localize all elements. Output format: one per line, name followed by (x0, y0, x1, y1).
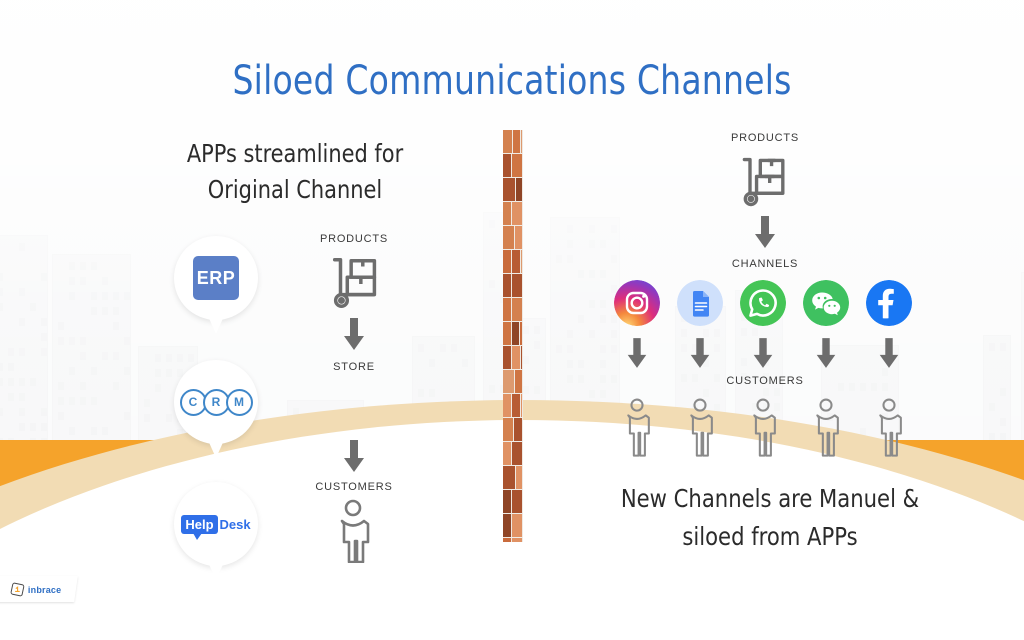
right-products-label: PRODUCTS (705, 132, 825, 144)
right-arrow-channel-4 (813, 338, 839, 373)
right-arrow-channel-1 (624, 338, 650, 373)
right-person-icon-5 (874, 392, 904, 469)
diamond-logo-icon (10, 582, 25, 597)
left-heading-line-1: APPs streamlined for (160, 136, 430, 172)
right-person-icon-2 (685, 392, 715, 469)
left-section-heading: APPs streamlined for Original Channel (160, 136, 430, 208)
app-bubble-helpdesk[interactable]: Help Desk (174, 482, 258, 566)
brick-row (503, 250, 523, 274)
brick-row (503, 322, 523, 346)
left-heading-line-2: Original Channel (160, 172, 430, 208)
right-arrow-channel-2 (687, 338, 713, 373)
right-person-icon-3 (748, 392, 778, 469)
bubble-tail-icon (207, 438, 225, 458)
right-person-icon-4 (811, 392, 841, 469)
left-products-label: PRODUCTS (294, 233, 414, 245)
left-dolly-icon (325, 252, 387, 319)
left-arrow-products-to-store (340, 318, 368, 355)
brick-row (503, 346, 523, 370)
left-customers-label: CUSTOMERS (294, 481, 414, 493)
right-person-icon-1 (622, 392, 652, 469)
left-store-label: STORE (294, 361, 414, 373)
brick-row (503, 466, 523, 490)
brick-row (503, 514, 523, 538)
brick-row (503, 202, 523, 226)
google-docs-icon[interactable] (677, 280, 723, 326)
slide-canvas: Siloed Communications Channels APPs stre… (0, 0, 1024, 640)
brick-row (503, 130, 523, 154)
facebook-icon[interactable] (866, 280, 912, 326)
brick-row (503, 418, 523, 442)
right-caption-line-2: siloed from APPs (610, 518, 930, 556)
helpdesk-logo-desk: Desk (220, 517, 251, 532)
brand-logo-text: inbrace (28, 584, 61, 594)
brick-row (503, 226, 523, 250)
crm-logo: C R M (180, 389, 253, 416)
right-channels-label: CHANNELS (705, 258, 825, 270)
brick-row (503, 154, 523, 178)
bubble-tail-icon (207, 314, 225, 334)
brand-logo-badge[interactable]: inbrace (0, 576, 78, 602)
brick-row (503, 394, 523, 418)
brick-row (503, 298, 523, 322)
right-customers-label: CUSTOMERS (705, 375, 825, 387)
page-title: Siloed Communications Channels (41, 58, 983, 104)
left-arrow-store-to-customers (340, 440, 368, 477)
brick-row (503, 538, 523, 542)
right-arrow-products-to-channels (751, 216, 779, 253)
right-section-caption: New Channels are Manuel & siloed from AP… (610, 480, 930, 556)
app-bubble-erp[interactable]: ERP (174, 236, 258, 320)
brick-row (503, 370, 523, 394)
right-dolly-icon (735, 152, 795, 217)
bubble-tail-icon (207, 560, 225, 580)
left-person-icon (334, 499, 372, 568)
app-bubble-crm[interactable]: C R M (174, 360, 258, 444)
right-caption-line-1: New Channels are Manuel & (610, 480, 930, 518)
helpdesk-logo: Help Desk (181, 515, 250, 534)
whatsapp-icon[interactable] (740, 280, 786, 326)
brick-wall-divider (503, 130, 523, 542)
erp-logo: ERP (193, 256, 239, 300)
right-arrow-channel-5 (876, 338, 902, 373)
right-arrow-channel-3 (750, 338, 776, 373)
brick-row (503, 490, 523, 514)
instagram-icon[interactable] (614, 280, 660, 326)
brick-row (503, 442, 523, 466)
helpdesk-logo-help: Help (181, 515, 217, 534)
wechat-icon[interactable] (803, 280, 849, 326)
brick-row (503, 274, 523, 298)
brick-row (503, 178, 523, 202)
crm-letter-m: M (226, 389, 253, 416)
